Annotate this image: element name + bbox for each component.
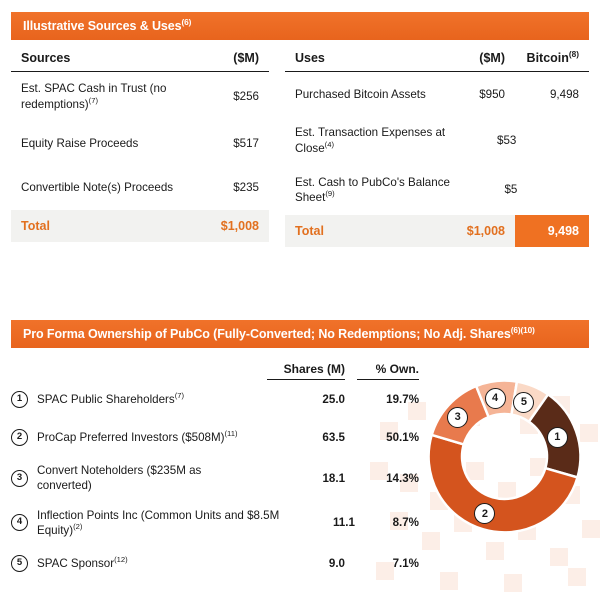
row-percent: 7.1%	[357, 556, 419, 571]
row-label: Inflection Points Inc (Common Units and …	[37, 508, 289, 538]
table-row: Purchased Bitcoin Assets $950 9,498	[285, 72, 589, 116]
table-row: 5 SPAC Sponsor(12) 9.0 7.1%	[11, 545, 419, 583]
donut-callout-1: 1	[547, 427, 568, 448]
row-footnote: (2)	[73, 522, 82, 531]
bitcoin-column-header: Bitcoin(8)	[505, 51, 579, 65]
row-label: Convert Noteholders ($235M as converted)	[37, 463, 267, 493]
row-label: SPAC Sponsor(12)	[37, 556, 267, 571]
ownership-donut-chart: 12345	[419, 362, 589, 582]
row-label: SPAC Public Shareholders(7)	[37, 392, 267, 407]
uses-column-header: Uses	[295, 51, 443, 65]
row-amount: $5	[466, 182, 518, 198]
row-footnote: (12)	[114, 555, 128, 564]
sources-uses-banner-title: Illustrative Sources & Uses	[23, 19, 181, 33]
pro-forma-ownership-section: Pro Forma Ownership of PubCo (Fully-Conv…	[11, 320, 589, 583]
row-footnote: (7)	[89, 96, 98, 105]
uses-total-amount: $1,008	[453, 215, 515, 247]
ownership-banner-footnote: (6)(10)	[511, 326, 535, 335]
ownership-banner: Pro Forma Ownership of PubCo (Fully-Conv…	[11, 320, 589, 348]
table-row: Est. Cash to PubCo's Balance Sheet(9) $5	[285, 166, 589, 215]
row-shares: 11.1	[289, 515, 355, 530]
row-amount: $517	[197, 136, 259, 152]
ownership-banner-title: Pro Forma Ownership of PubCo (Fully-Conv…	[23, 327, 511, 341]
sources-column-header: Sources	[21, 51, 197, 65]
sources-uses-banner: Illustrative Sources & Uses(6)	[11, 12, 589, 40]
uses-total-label: Total	[285, 215, 453, 247]
row-amount: $950	[443, 87, 505, 103]
row-label: Convertible Note(s) Proceeds	[21, 180, 197, 196]
table-row: 4 Inflection Points Inc (Common Units an…	[11, 501, 419, 545]
sources-uses-banner-footnote: (6)	[181, 18, 191, 27]
ownership-body: Shares (M) % Own. 1 SPAC Public Sharehol…	[11, 362, 589, 582]
row-amount: $53	[464, 133, 516, 149]
table-row: 2 ProCap Preferred Investors ($508M)(11)…	[11, 418, 419, 456]
sources-uses-tables: Sources ($M) Est. SPAC Cash in Trust (no…	[11, 51, 589, 247]
row-footnote: (4)	[325, 140, 334, 149]
row-percent: 19.7%	[357, 392, 419, 407]
uses-total-bitcoin: 9,498	[515, 215, 589, 247]
uses-amount-column-header: ($M)	[443, 51, 505, 65]
table-row: Est. SPAC Cash in Trust (no redemptions)…	[11, 72, 269, 121]
legend-badge-2: 2	[11, 429, 28, 446]
row-percent: 50.1%	[357, 430, 419, 445]
ownership-holder-column-header	[41, 362, 267, 380]
table-row: 1 SPAC Public Shareholders(7) 25.0 19.7%	[11, 380, 419, 418]
legend-badge-4: 4	[11, 514, 28, 531]
shares-column-header: Shares (M)	[267, 362, 345, 380]
row-percent: 14.3%	[357, 471, 419, 486]
row-shares: 63.5	[267, 430, 345, 445]
row-label: Est. SPAC Cash in Trust (no redemptions)…	[21, 81, 209, 112]
donut-callout-5: 5	[513, 392, 534, 413]
legend-badge-3: 3	[11, 470, 28, 487]
uses-table-header: Uses ($M) Bitcoin(8)	[285, 51, 589, 72]
uses-total-row: Total $1,008 9,498	[285, 215, 589, 247]
percent-own-column-header: % Own.	[357, 362, 419, 380]
table-row: Convertible Note(s) Proceeds $235	[11, 166, 269, 210]
sources-total-amount: $1,008	[207, 210, 269, 242]
row-label: Est. Transaction Expenses at Close(4)	[295, 125, 464, 156]
donut-callout-4: 4	[485, 388, 506, 409]
slide: Illustrative Sources & Uses(6) Sources (…	[0, 0, 600, 592]
row-label: Equity Raise Proceeds	[21, 136, 197, 152]
ownership-table-header: Shares (M) % Own.	[11, 362, 419, 380]
sources-and-uses-section: Illustrative Sources & Uses(6) Sources (…	[11, 12, 589, 247]
sources-amount-column-header: ($M)	[197, 51, 259, 65]
row-label: Est. Cash to PubCo's Balance Sheet(9)	[295, 175, 466, 206]
legend-badge-1: 1	[11, 391, 28, 408]
row-footnote: (11)	[225, 429, 238, 438]
ownership-table: Shares (M) % Own. 1 SPAC Public Sharehol…	[11, 362, 419, 582]
row-footnote: (7)	[175, 391, 184, 400]
row-amount: $235	[197, 180, 259, 196]
uses-table: Uses ($M) Bitcoin(8) Purchased Bitcoin A…	[285, 51, 589, 247]
row-amount: $256	[209, 89, 259, 105]
sources-total-row: Total $1,008	[11, 210, 269, 242]
sources-table-header: Sources ($M)	[11, 51, 269, 72]
row-shares: 18.1	[267, 471, 345, 486]
table-row: Est. Transaction Expenses at Close(4) $5…	[285, 116, 589, 165]
row-bitcoin: 9,498	[505, 87, 579, 103]
table-row: 3 Convert Noteholders ($235M as converte…	[11, 456, 419, 500]
table-row: Equity Raise Proceeds $517	[11, 122, 269, 166]
sources-table: Sources ($M) Est. SPAC Cash in Trust (no…	[11, 51, 269, 247]
row-percent: 8.7%	[367, 515, 419, 530]
donut-callout-3: 3	[447, 407, 468, 428]
row-shares: 25.0	[267, 392, 345, 407]
sources-total-label: Total	[11, 210, 207, 242]
row-label: Purchased Bitcoin Assets	[295, 87, 443, 103]
legend-badge-5: 5	[11, 555, 28, 572]
row-label: ProCap Preferred Investors ($508M)(11)	[37, 430, 267, 445]
row-shares: 9.0	[267, 556, 345, 571]
row-footnote: (9)	[325, 189, 334, 198]
